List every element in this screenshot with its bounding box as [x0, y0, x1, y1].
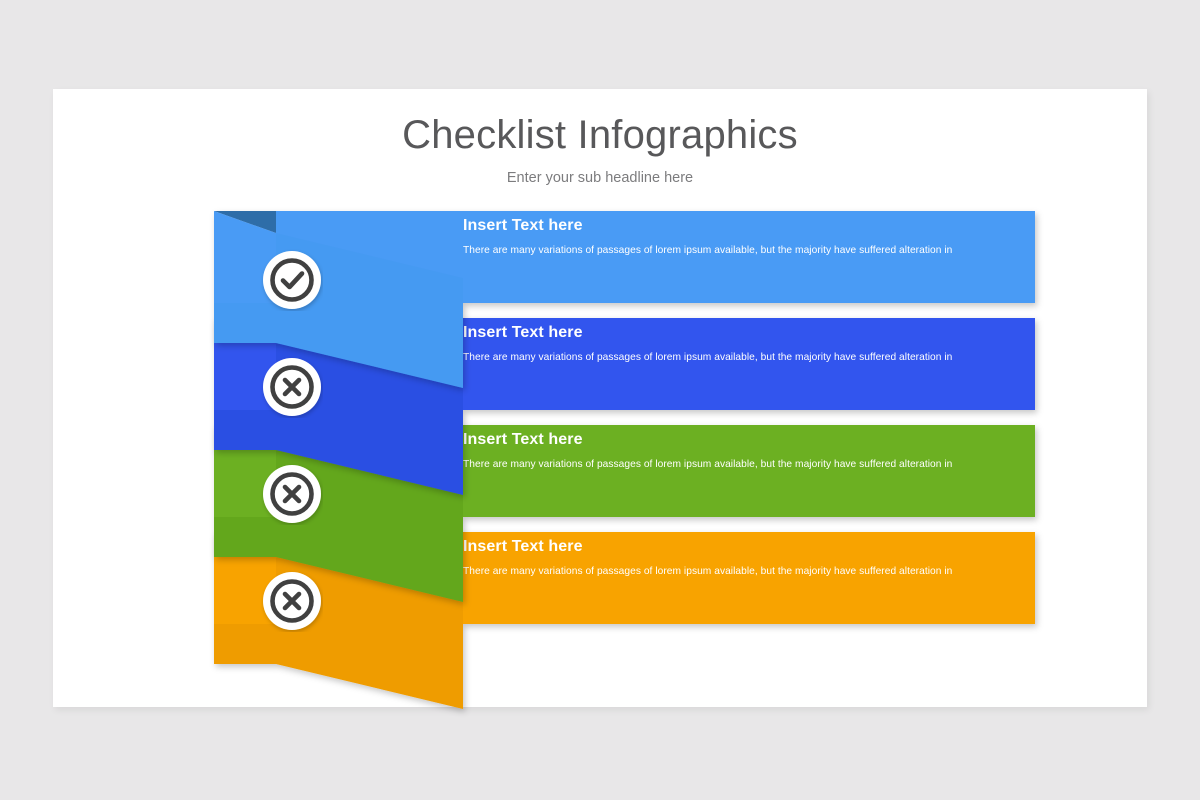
row-body-text: There are many variations of passages of… [463, 245, 993, 257]
check-circle-icon [261, 249, 323, 311]
slide-card: Checklist Infographics Enter your sub he… [53, 89, 1147, 707]
checklist-row[interactable]: Insert Text hereThere are many variation… [210, 207, 1147, 392]
row-heading: Insert Text here [463, 216, 993, 236]
row-text-block: Insert Text hereThere are many variation… [463, 216, 993, 257]
checklist-rows: Insert Text hereThere are many variation… [53, 89, 1147, 707]
slide-canvas: Checklist Infographics Enter your sub he… [0, 0, 1200, 800]
